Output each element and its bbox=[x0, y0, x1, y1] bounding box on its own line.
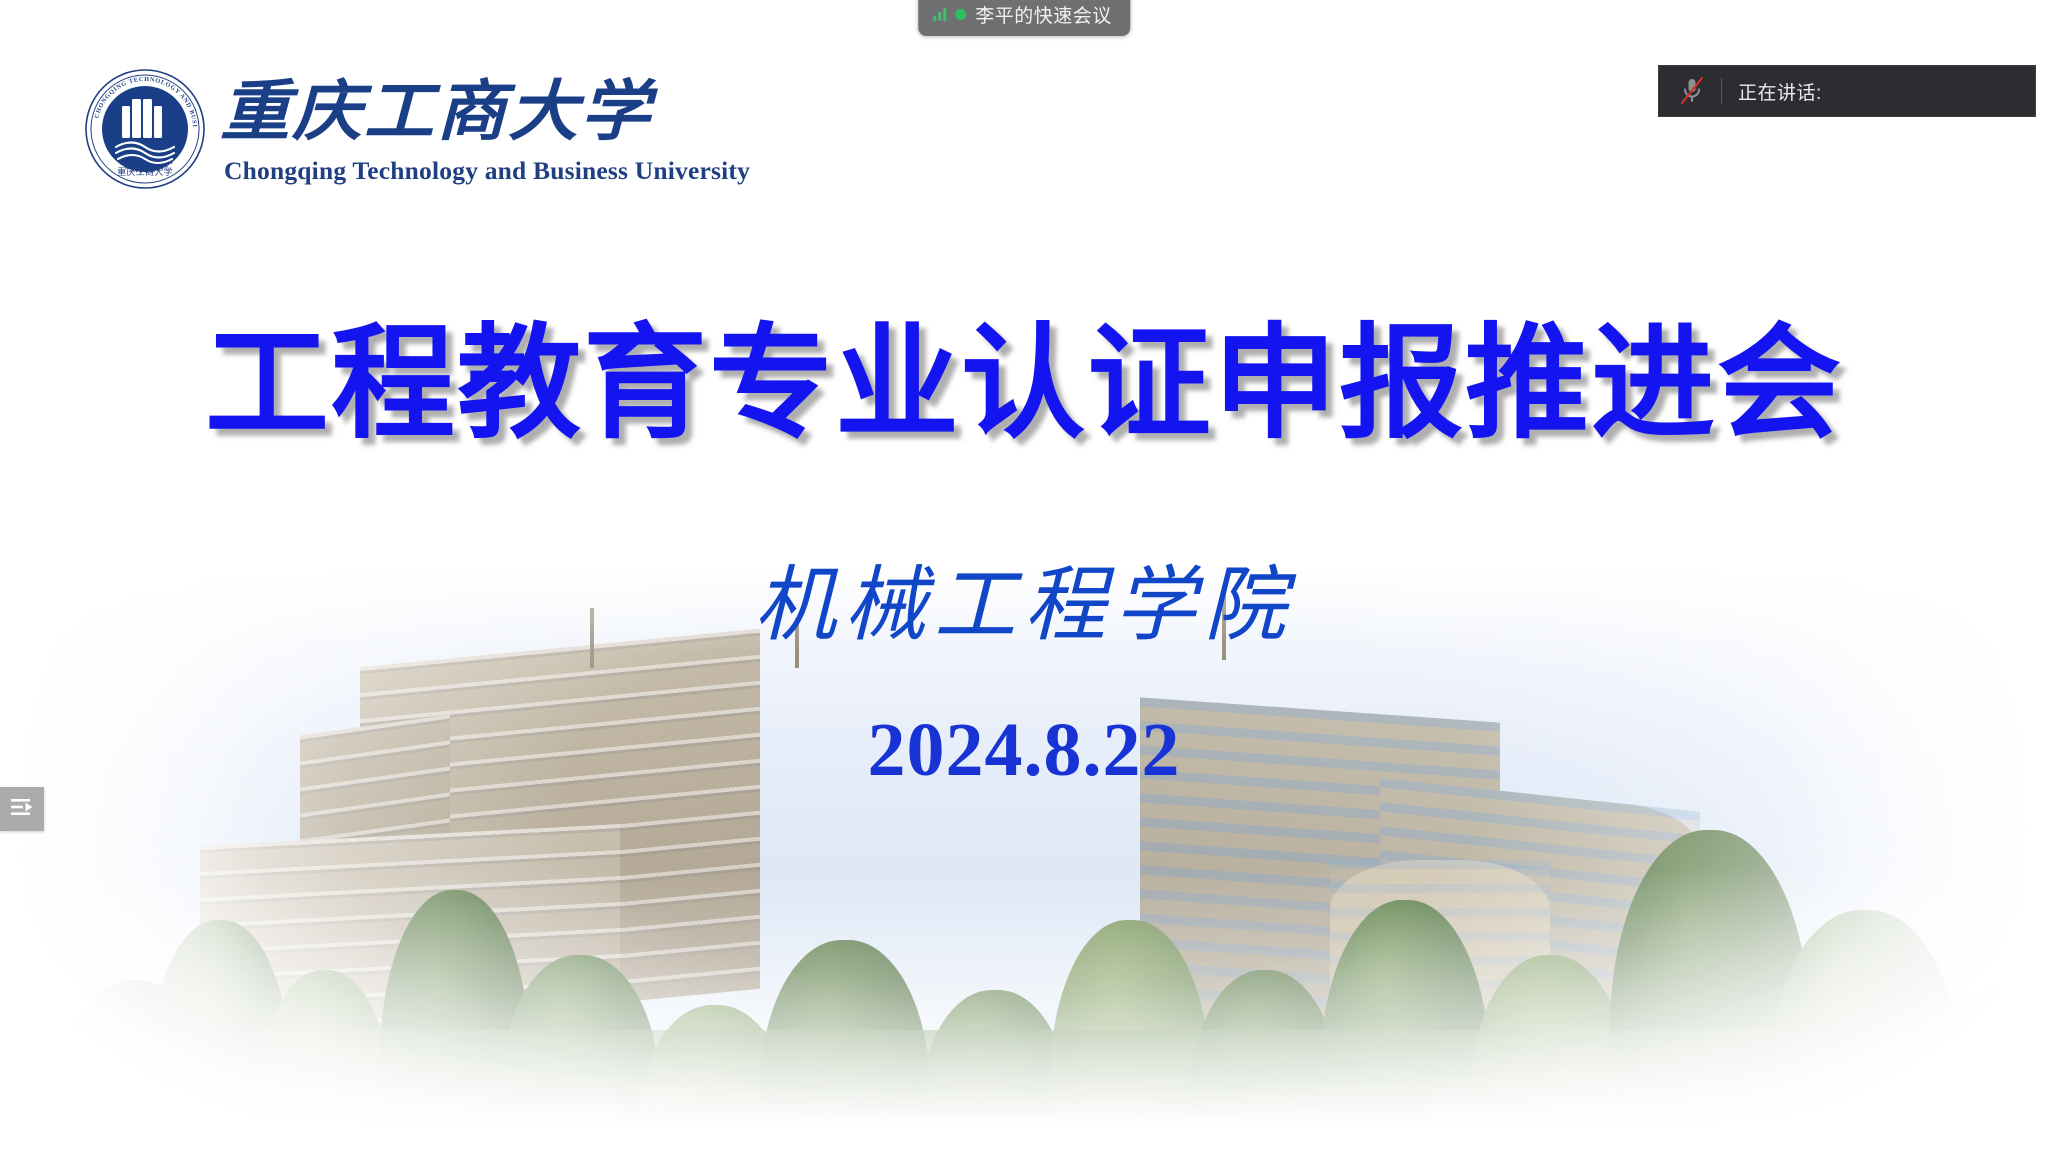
university-logo: CHONGQING TECHNOLOGY AND BUSINESS UNIVER… bbox=[84, 68, 750, 190]
slide-subtitle-department: 机械工程学院 bbox=[0, 565, 2048, 647]
university-name-group: 重庆工商大学 Chongqing Technology and Business… bbox=[220, 72, 750, 186]
slide-main-title: 工程教育专业认证申报推进会 bbox=[0, 322, 2048, 446]
speaking-status-label: 正在讲话: bbox=[1738, 78, 1822, 105]
university-name-cn: 重庆工商大学 bbox=[220, 72, 750, 152]
panel-divider bbox=[1721, 78, 1722, 104]
speaking-status-panel[interactable]: 正在讲话: bbox=[1658, 65, 2036, 117]
microphone-muted-icon[interactable] bbox=[1679, 76, 1705, 106]
meeting-name-label: 李平的快速会议 bbox=[975, 1, 1112, 28]
university-seal-icon: CHONGQING TECHNOLOGY AND BUSINESS UNIVER… bbox=[84, 68, 206, 190]
slide-date: 2024.8.22 bbox=[0, 712, 2048, 788]
screen-share-stage: CHONGQING TECHNOLOGY AND BUSINESS UNIVER… bbox=[0, 0, 2048, 1151]
signal-bars-icon bbox=[933, 8, 946, 21]
svg-text:重庆工商大学: 重庆工商大学 bbox=[220, 72, 658, 150]
svg-text:重庆工商大学: 重庆工商大学 bbox=[117, 166, 173, 178]
expand-panel-icon bbox=[9, 797, 35, 822]
foliage-ground bbox=[0, 1030, 2048, 1151]
meeting-name-pill[interactable]: 李平的快速会议 bbox=[918, 0, 1130, 36]
expand-panel-button[interactable] bbox=[0, 787, 44, 831]
university-name-en: Chongqing Technology and Business Univer… bbox=[224, 156, 750, 186]
recording-dot-icon bbox=[955, 9, 966, 20]
